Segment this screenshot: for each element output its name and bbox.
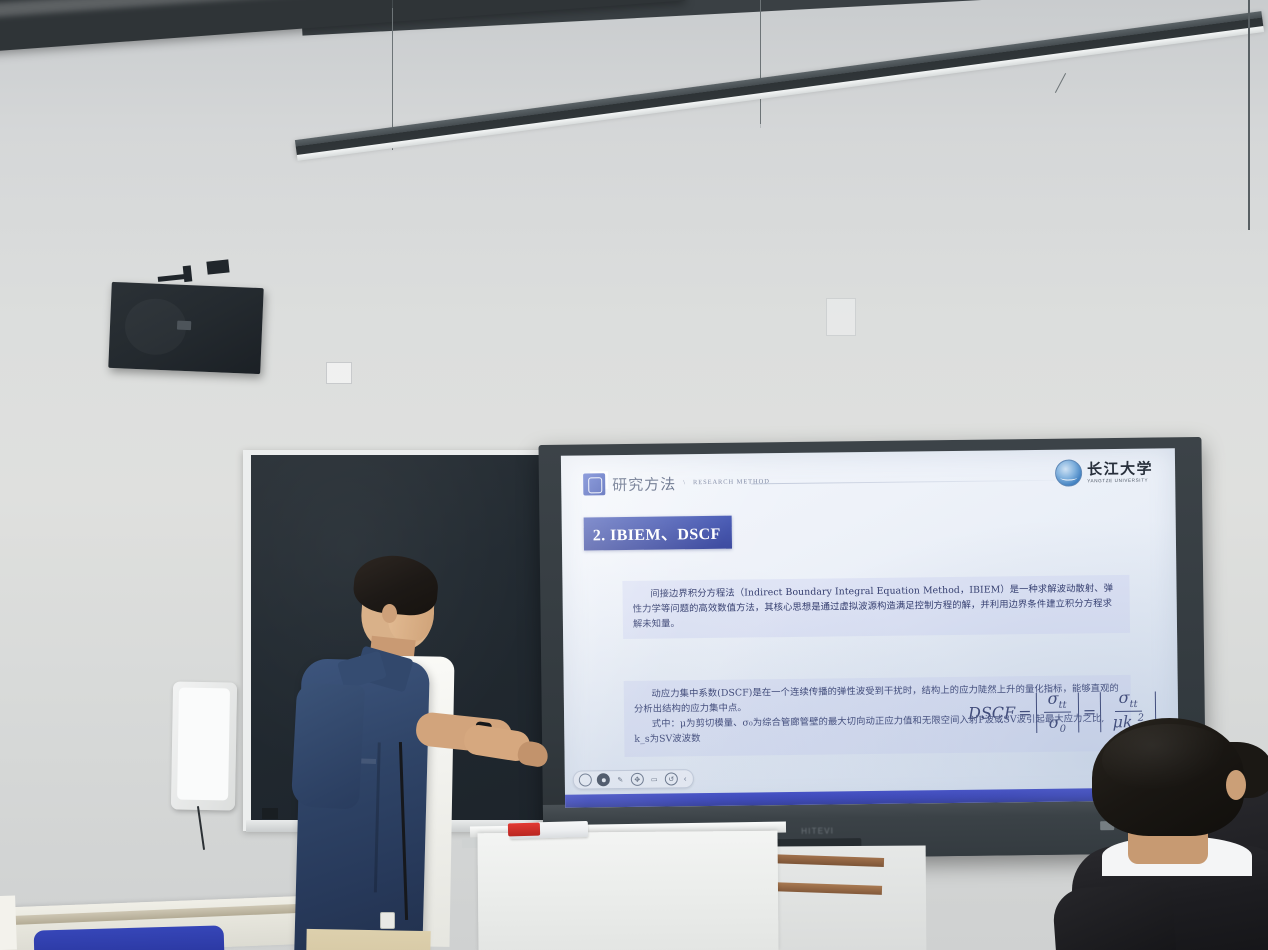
presenter-tshirt-tag	[380, 912, 395, 929]
research-method-icon	[583, 473, 605, 495]
wall-plate-small	[326, 362, 352, 384]
audience-shoulder	[1052, 882, 1177, 950]
paragraph-ibiem-definition: 间接边界积分方程法（Indirect Boundary Integral Equ…	[622, 575, 1130, 639]
shape-icon[interactable]: ▭	[649, 774, 660, 785]
light-cable-right	[760, 0, 761, 124]
formula-term1-numerator: σtt	[1044, 690, 1071, 714]
formula-term2-numerator: σtt	[1114, 689, 1141, 713]
wall-plate-right	[826, 298, 856, 336]
blue-chair	[34, 925, 225, 950]
presenter-hand	[516, 740, 550, 769]
collapse-chevron-icon[interactable]: ‹	[683, 774, 688, 783]
blackboard-clip	[262, 808, 278, 819]
university-logo-text: 长江大学 YANGTZE UNIVERSITY	[1087, 461, 1153, 483]
audience-ear	[1226, 770, 1246, 800]
wall-speaker	[108, 282, 263, 374]
front-desk-side-panel	[0, 895, 17, 950]
pen-icon[interactable]: ✎	[615, 774, 626, 785]
university-name-en: YANGTZE UNIVERSITY	[1087, 478, 1153, 483]
presenter-sleeve	[291, 682, 365, 809]
formula-equals-1: =	[1018, 703, 1032, 722]
university-name-cn: 长江大学	[1087, 461, 1153, 477]
slide-section-tag: 2. IBIEM、DSCF	[584, 516, 732, 551]
presenter-ear	[382, 604, 397, 623]
paragraph-ibiem-text: 间接边界积分方程法（Indirect Boundary Integral Equ…	[632, 581, 1120, 632]
formula-lhs: DSCF	[968, 704, 1015, 724]
slide-header-title-cn: 研究方法	[612, 473, 676, 495]
audience-member-front	[1050, 718, 1268, 950]
classroom-presentation-photo: HITEVI 研究方法 \ RESEARCH METHOD	[0, 0, 1268, 950]
speaker-badge	[177, 321, 191, 331]
abs-bar-open-1	[1035, 693, 1037, 733]
slide-header-separator: \	[683, 479, 686, 487]
annotation-toolbar[interactable]: ✎ ✥ ▭ ↺ ‹	[573, 769, 694, 789]
eraser-icon[interactable]: ✥	[631, 773, 644, 786]
presenter-trousers	[305, 929, 430, 950]
undo-icon[interactable]: ↺	[665, 772, 678, 785]
university-logo-mark-icon	[1055, 459, 1082, 486]
slide-header-title-en: RESEARCH METHOD	[693, 478, 770, 487]
audience-hair	[1092, 718, 1244, 836]
presenter	[296, 556, 546, 950]
display-brand-label: HITEVI	[801, 826, 834, 835]
cursor-icon[interactable]	[579, 773, 592, 786]
wall-dispenser[interactable]	[171, 681, 237, 810]
pointer-dot-icon[interactable]	[597, 773, 610, 786]
university-logo: 长江大学 YANGTZE UNIVERSITY	[1055, 459, 1153, 487]
ceiling-power-cord	[1208, 0, 1250, 230]
